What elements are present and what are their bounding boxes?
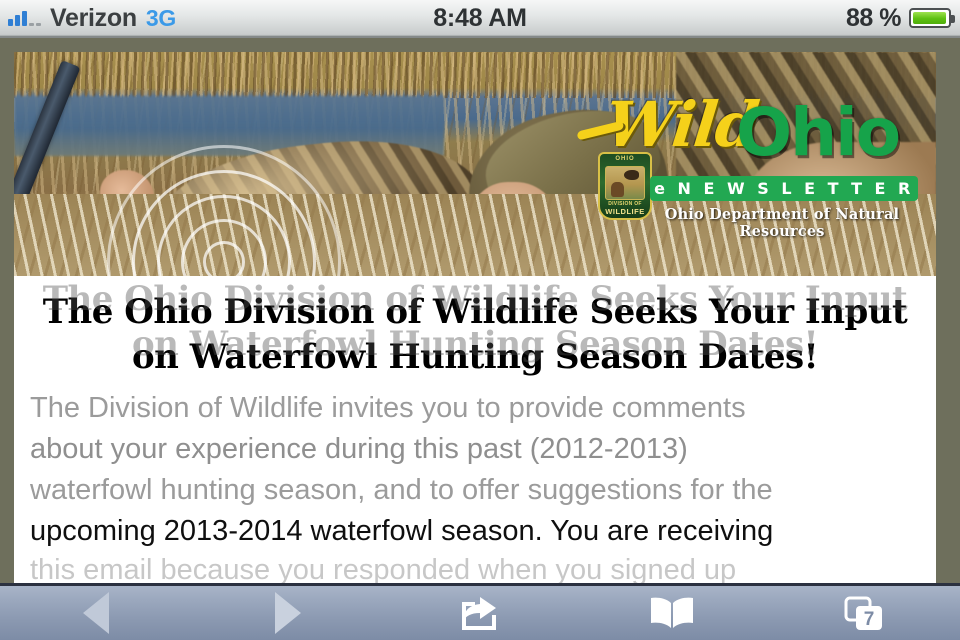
- logo-newsletter-text: e N E W S L E T T E R: [650, 176, 918, 201]
- web-content-area[interactable]: OHIO DIVISION OF WILDLIFE Wild Ohio e N …: [0, 38, 960, 583]
- badge-deer-icon: [611, 182, 624, 197]
- article-body: The Ohio Division of Wildlife Seeks Your…: [14, 276, 936, 583]
- phone-screen: Verizon 3G 8:48 AM 88 %: [0, 0, 960, 640]
- forward-arrow-icon: [275, 592, 301, 634]
- back-button[interactable]: [0, 586, 192, 640]
- badge-scene: [605, 166, 645, 200]
- share-button[interactable]: [384, 586, 576, 640]
- hero-banner-image: OHIO DIVISION OF WILDLIFE Wild Ohio e N …: [14, 52, 936, 276]
- headline-line-1: The Ohio Division of Wildlife Seeks Your…: [43, 292, 908, 332]
- logo-agency-text: Ohio Department of Natural Resources: [640, 206, 924, 240]
- body-line-1: The Division of Wildlife invites you to …: [30, 388, 920, 429]
- status-bar-clock: 8:48 AM: [0, 0, 960, 36]
- body-line-2: about your experience during this past (…: [30, 429, 920, 470]
- share-icon: [458, 593, 502, 633]
- status-bar-right: 88 %: [846, 0, 951, 36]
- body-line-3: waterfowl hunting season, and to offer s…: [30, 470, 920, 511]
- browser-toolbar: 7: [0, 583, 960, 640]
- tabs-count: 7: [864, 609, 875, 630]
- back-arrow-icon: [83, 592, 109, 634]
- wild-ohio-logo[interactable]: OHIO DIVISION OF WILDLIFE Wild Ohio e N …: [588, 90, 928, 258]
- badge-bird-icon: [624, 170, 639, 180]
- body-line-4: upcoming 2013-2014 waterfowl season. You…: [30, 511, 920, 552]
- battery-icon: [909, 8, 951, 28]
- tabs-button[interactable]: 7: [768, 586, 960, 640]
- bookmarks-button[interactable]: [576, 586, 768, 640]
- headline-line-2: on Waterfowl Hunting Season Dates!: [132, 337, 818, 377]
- battery-percent: 88 %: [846, 4, 901, 33]
- page-title: The Ohio Division of Wildlife Seeks Your…: [30, 290, 920, 380]
- open-book-icon: [649, 596, 695, 630]
- article-paragraph: The Division of Wildlife invites you to …: [30, 388, 920, 583]
- logo-ohio-word: Ohio: [736, 94, 899, 171]
- tabs-icon: 7: [842, 593, 886, 633]
- newsletter-page: OHIO DIVISION OF WILDLIFE Wild Ohio e N …: [14, 52, 936, 583]
- status-bar: Verizon 3G 8:48 AM 88 %: [0, 0, 960, 38]
- body-line-5: this email because you responded when yo…: [30, 550, 920, 583]
- forward-button[interactable]: [192, 586, 384, 640]
